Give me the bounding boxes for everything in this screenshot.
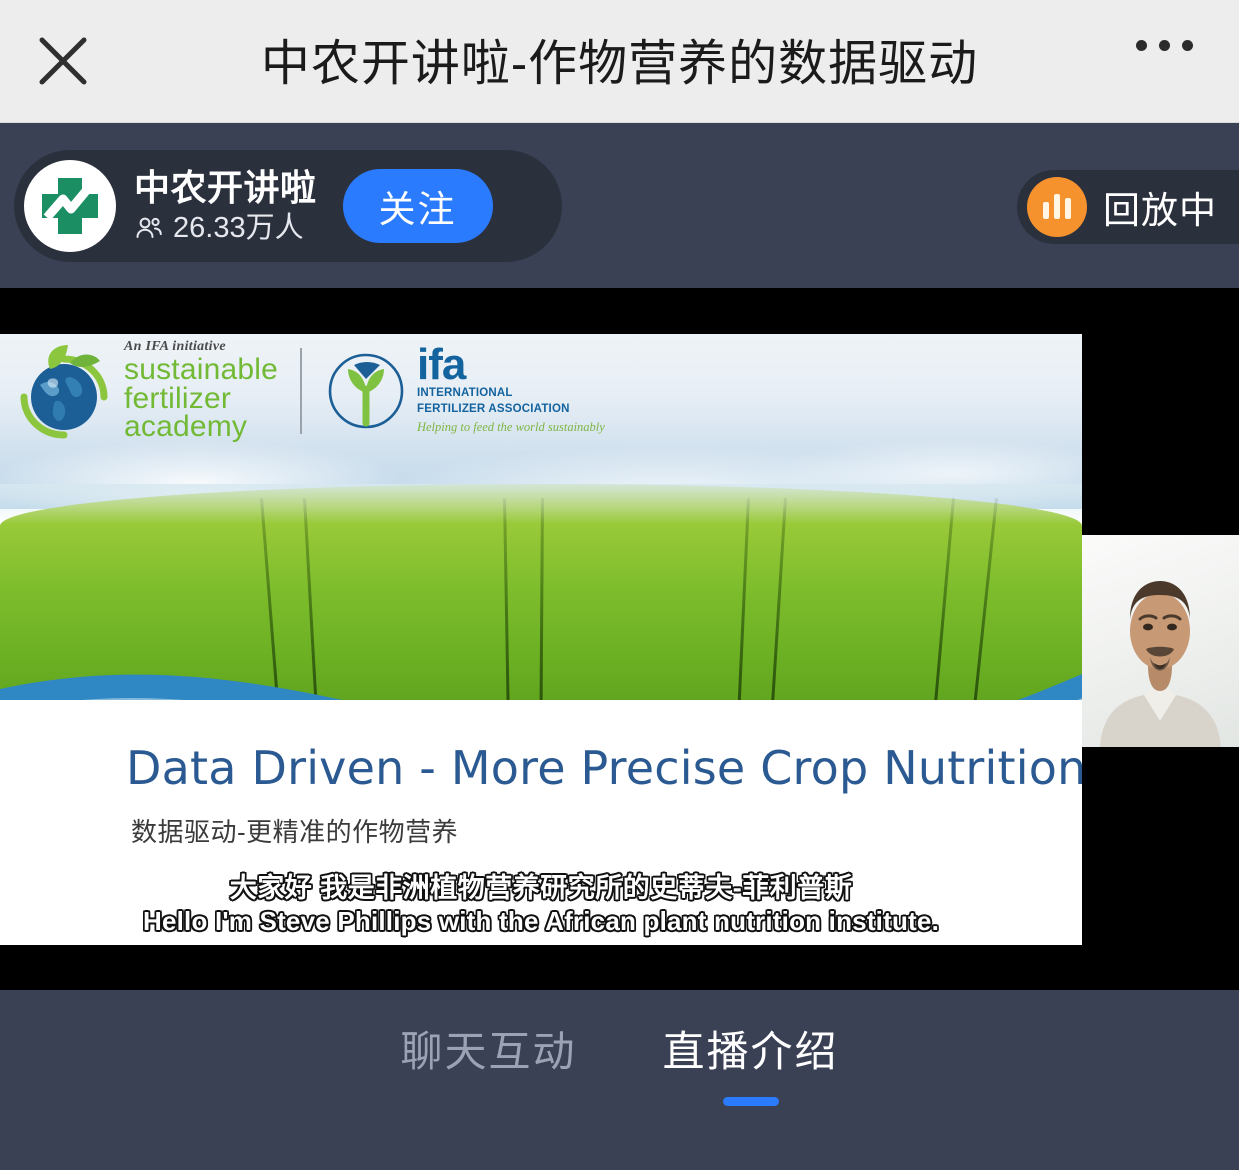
more-dot xyxy=(1159,40,1170,51)
ifa-plant-icon xyxy=(324,349,408,433)
tab-bar: 聊天互动 直播介绍 xyxy=(0,1018,1239,1106)
channel-avatar-logo[interactable] xyxy=(24,160,116,252)
top-navbar: 中农开讲啦-作物营养的数据驱动 xyxy=(0,0,1239,123)
presenter-portrait xyxy=(1082,535,1239,747)
globe-leaf-icon xyxy=(14,341,114,441)
more-dot xyxy=(1136,40,1147,51)
more-dot xyxy=(1182,40,1193,51)
sfa-line-1: sustainable xyxy=(124,356,278,385)
logo-divider xyxy=(300,348,302,434)
bottom-panel: 聊天互动 直播介绍 xyxy=(0,990,1239,1170)
bar xyxy=(1065,198,1071,219)
tab-underline xyxy=(460,1097,516,1106)
slide-subtitle: 数据驱动-更精准的作物营养 xyxy=(131,812,458,849)
ifa-sub-2: FERTILIZER ASSOCIATION xyxy=(417,403,605,416)
sfa-text: An IFA initiative sustainable fertilizer… xyxy=(124,340,278,442)
ifa-logo: ifa INTERNATIONAL FERTILIZER ASSOCIATION… xyxy=(324,346,605,435)
ifa-text: ifa INTERNATIONAL FERTILIZER ASSOCIATION… xyxy=(417,346,605,435)
ifa-sub-1: INTERNATIONAL xyxy=(417,387,605,400)
video-player[interactable]: An IFA initiative sustainable fertilizer… xyxy=(0,288,1239,990)
slide-title: Data Driven - More Precise Crop Nutritio… xyxy=(126,741,1082,795)
tab-live-intro[interactable]: 直播介绍 xyxy=(663,1018,839,1106)
sfa-kicker: An IFA initiative xyxy=(124,340,278,353)
people-icon xyxy=(134,214,164,244)
subtitle-captions: 大家好 我是非洲植物营养研究所的史蒂夫-菲利普斯 Hello I'm Steve… xyxy=(0,866,1082,937)
tab-chat-label: 聊天互动 xyxy=(400,1018,576,1079)
ifa-wordmark: ifa xyxy=(417,346,605,383)
field-haze xyxy=(0,484,1082,524)
channel-chip[interactable]: 中农开讲啦 26.33万人 关注 xyxy=(14,150,562,262)
viewer-count: 26.33万人 xyxy=(173,213,304,245)
bar xyxy=(1043,202,1049,219)
status-label: 回放中 xyxy=(1103,180,1223,234)
more-horizontal-icon[interactable] xyxy=(1136,40,1193,51)
tab-live-intro-label: 直播介绍 xyxy=(663,1018,839,1079)
sfa-line-2: fertilizer xyxy=(124,385,278,414)
sustainable-fertilizer-academy-logo: An IFA initiative sustainable fertilizer… xyxy=(14,340,278,442)
status-badge: 回放中 xyxy=(1017,170,1239,244)
tab-underline-active xyxy=(723,1097,779,1106)
channel-viewers: 26.33万人 xyxy=(134,213,317,245)
presenter-video[interactable] xyxy=(1082,535,1239,747)
channel-name: 中农开讲啦 xyxy=(134,167,317,208)
ifa-tagline: Helping to feed the world sustainably xyxy=(417,420,605,435)
tab-chat[interactable]: 聊天互动 xyxy=(400,1018,576,1106)
channel-text: 中农开讲啦 26.33万人 xyxy=(134,167,317,245)
caption-english: Hello I'm Steve Phillips with the Africa… xyxy=(143,906,939,937)
bar xyxy=(1054,194,1060,219)
caption-chinese: 大家好 我是非洲植物营养研究所的史蒂夫-菲利普斯 xyxy=(230,866,853,905)
slide-logos: An IFA initiative sustainable fertilizer… xyxy=(14,340,605,442)
page-title: 中农开讲啦-作物营养的数据驱动 xyxy=(0,0,1239,123)
presentation-slide: An IFA initiative sustainable fertilizer… xyxy=(0,334,1082,945)
playback-bars-icon xyxy=(1027,177,1087,237)
live-stream-page: 中农开讲啦-作物营养的数据驱动 中农开讲啦 xyxy=(0,0,1239,1170)
channel-info-bar: 中农开讲啦 26.33万人 关注 回放中 xyxy=(0,123,1239,288)
follow-button[interactable]: 关注 xyxy=(343,169,493,243)
sfa-line-3: academy xyxy=(124,413,278,442)
